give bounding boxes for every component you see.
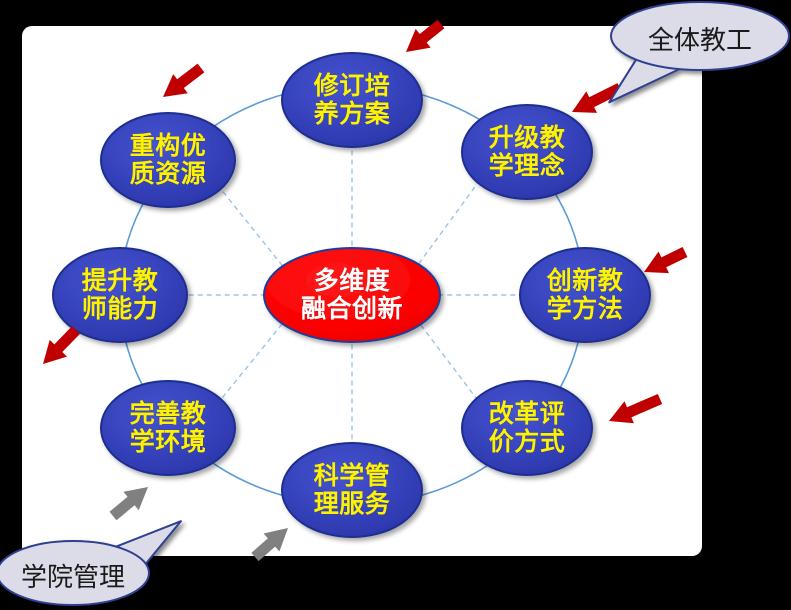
callout-bubbles-layer bbox=[0, 0, 791, 610]
slide-canvas: 修订培养方案升级教学理念创新教学方法改革评价方式科学管理服务完善教学环境提升教师… bbox=[0, 0, 791, 610]
callout-top-right-ellipse[interactable] bbox=[611, 2, 789, 70]
callout-bottom-left-ellipse[interactable] bbox=[0, 541, 149, 605]
callout-top-right[interactable] bbox=[609, 2, 789, 102]
callout-bottom-left[interactable] bbox=[0, 521, 181, 605]
